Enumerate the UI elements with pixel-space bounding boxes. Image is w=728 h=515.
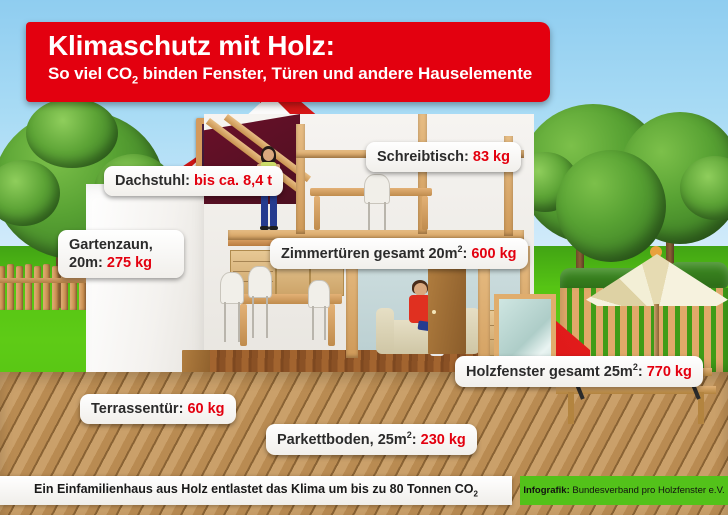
- page-subtitle: So viel CO2 binden Fenster, Türen und an…: [26, 60, 550, 86]
- chair-leg: [238, 302, 240, 342]
- callout-terrassentuer[interactable]: Terrassentür: 60 kg: [80, 394, 236, 424]
- chair-leg: [224, 302, 226, 342]
- callout-label: Zimmertüren gesamt 20m: [281, 246, 457, 262]
- dining-chair: [308, 280, 330, 308]
- page-title: Klimaschutz mit Holz:: [26, 22, 550, 60]
- chair-leg: [384, 202, 386, 230]
- callout-gartenzaun[interactable]: Gartenzaun, 20m: 275 kg: [58, 230, 184, 278]
- person-shoe: [260, 226, 269, 230]
- desk-chair: [364, 174, 390, 204]
- fence-picket: [7, 264, 14, 310]
- infographic-canvas: Klimaschutz mit Holz: So viel CO2 binden…: [0, 0, 728, 515]
- dining-table-leg: [240, 304, 247, 346]
- door-knob-icon: [432, 310, 436, 314]
- umbrella-canopy: [586, 254, 728, 306]
- title-banner: Klimaschutz mit Holz: So viel CO2 binden…: [26, 22, 550, 102]
- callout-label: Terrassentür:: [91, 401, 187, 417]
- credit-bar: Infografik: Bundesverband pro Holzfenste…: [520, 476, 728, 505]
- footer-statement: Ein Einfamilienhaus aus Holz entlastet d…: [34, 482, 478, 499]
- callout-label: Holzfenster gesamt 25m: [466, 364, 633, 380]
- dining-chair: [248, 266, 272, 298]
- callout-schreibtisch[interactable]: Schreibtisch: 83 kg: [366, 142, 521, 172]
- dining-table-leg: [328, 304, 335, 346]
- callout-holzfenster[interactable]: Holzfenster gesamt 25m2: 770 kg: [455, 356, 703, 387]
- interior-door: [428, 262, 466, 354]
- callout-label-line2: 20m:: [69, 255, 107, 271]
- person-shoe: [269, 226, 278, 230]
- desk-leg: [314, 196, 320, 230]
- fence-picket: [0, 266, 5, 310]
- callout-label-after: :: [412, 432, 421, 448]
- callout-value: 600 kg: [471, 246, 516, 262]
- chair-leg: [312, 306, 314, 340]
- person-head: [263, 149, 274, 161]
- chair-leg: [266, 296, 268, 338]
- callout-value: 770 kg: [647, 364, 692, 380]
- fence-picket: [43, 264, 50, 310]
- callout-label: Parkettboden, 25m: [277, 432, 407, 448]
- credit-text: Infografik: Bundesverband pro Holzfenste…: [523, 485, 724, 496]
- callout-label-line1: Gartenzaun,: [69, 237, 153, 253]
- callout-value: 230 kg: [421, 432, 466, 448]
- chair-leg: [252, 296, 254, 338]
- callout-label: Schreibtisch:: [377, 149, 473, 165]
- callout-value: 275 kg: [107, 255, 152, 271]
- callout-value: 83 kg: [473, 149, 510, 165]
- callout-label-after: :: [638, 364, 647, 380]
- cabinet-drawer-line: [233, 261, 273, 262]
- fence-picket: [34, 266, 41, 310]
- bench-leg: [568, 392, 574, 424]
- chair-leg: [324, 306, 326, 340]
- fence-picket: [16, 266, 23, 310]
- credit-label: Infografik:: [523, 485, 572, 496]
- subtitle-post: binden Fenster, Türen und andere Hausele…: [138, 64, 532, 83]
- chair-leg: [368, 202, 370, 230]
- dining-chair: [220, 272, 244, 304]
- footer-statement-bar: Ein Einfamilienhaus aus Holz entlastet d…: [0, 476, 512, 505]
- footer-statement-subscript: 2: [473, 490, 477, 499]
- footer-statement-text: Ein Einfamilienhaus aus Holz entlastet d…: [34, 482, 473, 496]
- desk-leg: [422, 196, 428, 230]
- fence-picket: [25, 264, 32, 310]
- sofa-armrest: [376, 308, 394, 354]
- callout-value: 60 kg: [187, 401, 224, 417]
- callout-dachstuhl[interactable]: Dachstuhl: bis ca. 8,4 t: [104, 166, 283, 196]
- callout-label: Dachstuhl:: [115, 173, 194, 189]
- credit-source: Bundesverband pro Holzfenster e.V.: [572, 485, 724, 496]
- subtitle-pre: So viel CO: [48, 64, 132, 83]
- callout-parkettboden[interactable]: Parkettboden, 25m2: 230 kg: [266, 424, 477, 455]
- callout-value: bis ca. 8,4 t: [194, 173, 272, 189]
- callout-zimmertueren[interactable]: Zimmertüren gesamt 20m2: 600 kg: [270, 238, 528, 269]
- vertical-post: [296, 124, 305, 234]
